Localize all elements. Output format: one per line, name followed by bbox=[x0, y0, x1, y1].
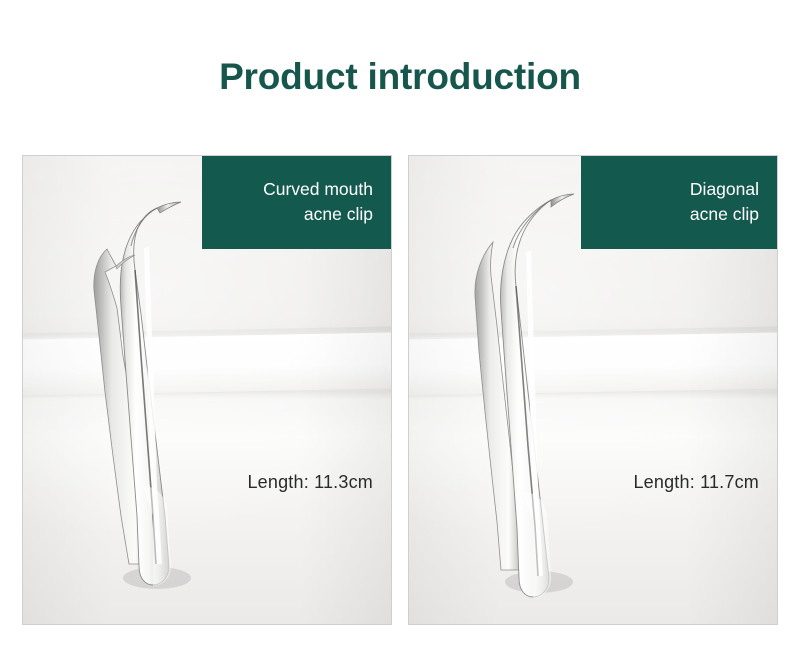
caption-line-1: Curved mouth bbox=[224, 177, 373, 202]
length-label: Length: 11.7cm bbox=[409, 472, 759, 493]
product-card-diagonal: Diagonal acne clip Length: 11.7cm bbox=[408, 155, 778, 625]
product-caption-badge: Diagonal acne clip bbox=[581, 156, 777, 249]
caption-line-2: acne clip bbox=[224, 202, 373, 227]
curved-tip-tweezers-icon bbox=[61, 186, 251, 606]
caption-line-2: acne clip bbox=[603, 202, 759, 227]
diagonal-tip-tweezers-icon bbox=[443, 186, 633, 606]
caption-line-1: Diagonal bbox=[603, 177, 759, 202]
page-title: Product introduction bbox=[0, 55, 800, 99]
length-label: Length: 11.3cm bbox=[23, 472, 373, 493]
product-card-curved-mouth: Curved mouth acne clip Length: 11.3cm bbox=[22, 155, 392, 625]
product-caption-badge: Curved mouth acne clip bbox=[202, 156, 391, 249]
